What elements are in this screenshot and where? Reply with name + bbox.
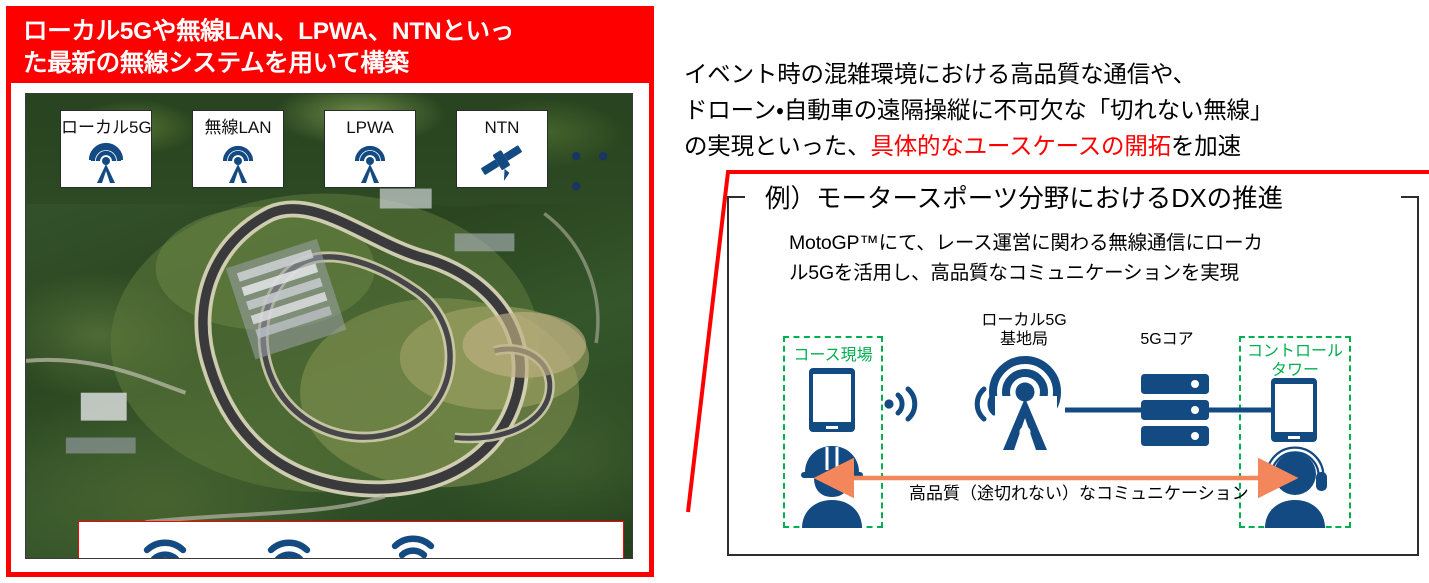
device-car: 自動車	[227, 528, 351, 559]
system-box-label: LPWA	[325, 118, 415, 138]
system-box-wirelesslan: 無線LAN	[192, 110, 284, 188]
left-panel-header: ローカル5Gや無線LAN、LPWA、NTNといっ た最新の無線システムを用いて構…	[11, 11, 649, 83]
example-panel: 例）モータースポーツ分野におけるDXの推進 MotoGP™にて、レース運営に関わ…	[727, 196, 1419, 556]
lead-text-line-1: イベント時の混雑環境における高品質な通信や、	[684, 56, 1424, 92]
device-strip: QR決済端末	[78, 521, 624, 559]
lead-text-line-3: の実現といった、具体的なユースケースの開拓を加速	[684, 128, 1424, 164]
system-box-label: 無線LAN	[193, 118, 283, 138]
wireless-signal-icon	[884, 389, 914, 419]
lead-text-line-3-pre: の実現といった、	[684, 133, 870, 159]
satellite-icon	[457, 139, 547, 188]
left-panel: ローカル5Gや無線LAN、LPWA、NTNといっ た最新の無線システムを用いて構…	[6, 6, 654, 577]
cell-tower-icon	[193, 139, 283, 188]
header-line-2: た最新の無線システムを用いて構築	[23, 50, 409, 77]
lead-text-block: イベント時の混雑環境における高品質な通信や、 ドローン・自動車の遠隔操縦に不可欠…	[684, 56, 1424, 164]
system-boxes-ellipsis: • • •	[571, 142, 632, 202]
system-box-local5g: ローカル5G	[60, 110, 152, 188]
lead-text-line-2: ドローン・自動車の遠隔操縦に不可欠な「切れない無線」	[684, 92, 1424, 128]
device-qr-payment-terminal: QR決済端末	[103, 528, 227, 559]
server-rack-icon	[1141, 374, 1209, 446]
tablet-icon	[809, 368, 855, 432]
cell-tower-icon	[993, 360, 1057, 450]
slide-root: ローカル5Gや無線LAN、LPWA、NTNといっ た最新の無線システムを用いて構…	[0, 0, 1429, 583]
system-box-ntn: NTN	[456, 110, 548, 188]
device-icon-group	[227, 528, 351, 559]
cell-tower-icon	[61, 139, 151, 188]
cell-tower-icon	[325, 139, 415, 188]
system-box-label: NTN	[457, 118, 547, 138]
headset-operator-icon	[1263, 450, 1327, 528]
lead-text-line-3-post: を加速	[1171, 133, 1241, 159]
tablet-icon	[1271, 378, 1317, 442]
device-icon-group	[103, 528, 227, 559]
device-icon-group	[351, 528, 475, 559]
network-diagram	[727, 196, 1419, 556]
system-box-lpwa: LPWA	[324, 110, 416, 188]
lead-text-accent: 具体的なユースケースの開拓	[870, 133, 1171, 159]
aerial-racing-circuit-photo: ローカル5G 無線LAN	[25, 93, 633, 559]
helmet-worker-icon	[801, 446, 863, 528]
system-box-label: ローカル5G	[61, 118, 151, 138]
device-drone: ドローン	[351, 528, 475, 559]
header-line-1: ローカル5Gや無線LAN、LPWA、NTNといっ	[23, 18, 514, 45]
